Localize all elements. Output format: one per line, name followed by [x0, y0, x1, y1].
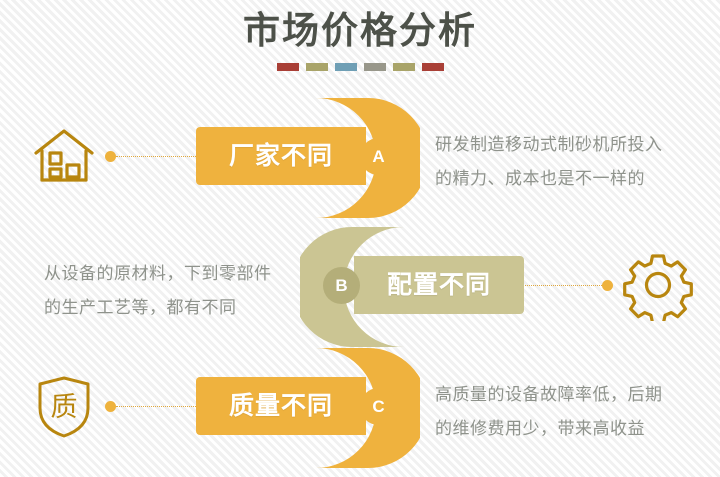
badge-letter: A [372, 138, 384, 175]
connector-dot [602, 280, 613, 291]
divider-dash-5 [393, 63, 415, 71]
divider-dash-6 [422, 63, 444, 71]
feature-bar-b[interactable]: 配置不同 [354, 256, 524, 314]
badge-a: A [360, 138, 397, 175]
feature-row-b: 配置不同 B 从设备的原材料，下到零部件的生产工艺等，都有不同 [0, 227, 720, 347]
connector-dot [105, 151, 116, 162]
feature-bar-c[interactable]: 质量不同 [196, 377, 366, 435]
feature-row-c: 质 质量不同 C 高质量的设备故障率低，后期的维修费用少，带来高收益 [0, 348, 720, 468]
badge-b: B [323, 267, 360, 304]
feature-bar-label: 质量不同 [229, 377, 333, 435]
divider-dash-1 [277, 63, 299, 71]
feature-description-c: 高质量的设备故障率低，后期的维修费用少，带来高收益 [435, 378, 677, 446]
label-cluster-b: 配置不同 B [300, 227, 524, 347]
badge-letter: B [335, 267, 347, 304]
gear-icon [622, 249, 694, 321]
connector-line-a [105, 150, 210, 162]
connector-dot [105, 401, 116, 412]
divider-dash-2 [306, 63, 328, 71]
feature-bar-a[interactable]: 厂家不同 [196, 127, 366, 185]
feature-bar-label: 配置不同 [387, 256, 491, 314]
shield-char: 质 [51, 392, 78, 422]
page-title: 市场价格分析 [0, 8, 720, 54]
house-icon [28, 120, 100, 192]
header: 市场价格分析 [0, 8, 720, 71]
infographic-canvas: 市场价格分析 [0, 0, 720, 477]
title-divider [0, 63, 720, 71]
divider-dash-3 [335, 63, 357, 71]
badge-letter: C [372, 388, 384, 425]
feature-row-a: 厂家不同 A 研发制造移动式制砂机所投入的精力、成本也是不一样的 [0, 98, 720, 218]
feature-bar-label: 厂家不同 [229, 127, 333, 185]
feature-description-b: 从设备的原材料，下到零部件的生产工艺等，都有不同 [44, 257, 286, 325]
connector-line-c [105, 400, 210, 412]
label-cluster-a: 厂家不同 A [196, 98, 420, 218]
badge-c: C [360, 388, 397, 425]
shield-quality-icon: 质 [28, 370, 100, 442]
divider-dash-4 [364, 63, 386, 71]
label-cluster-c: 质量不同 C [196, 348, 420, 468]
feature-description-a: 研发制造移动式制砂机所投入的精力、成本也是不一样的 [435, 128, 677, 196]
